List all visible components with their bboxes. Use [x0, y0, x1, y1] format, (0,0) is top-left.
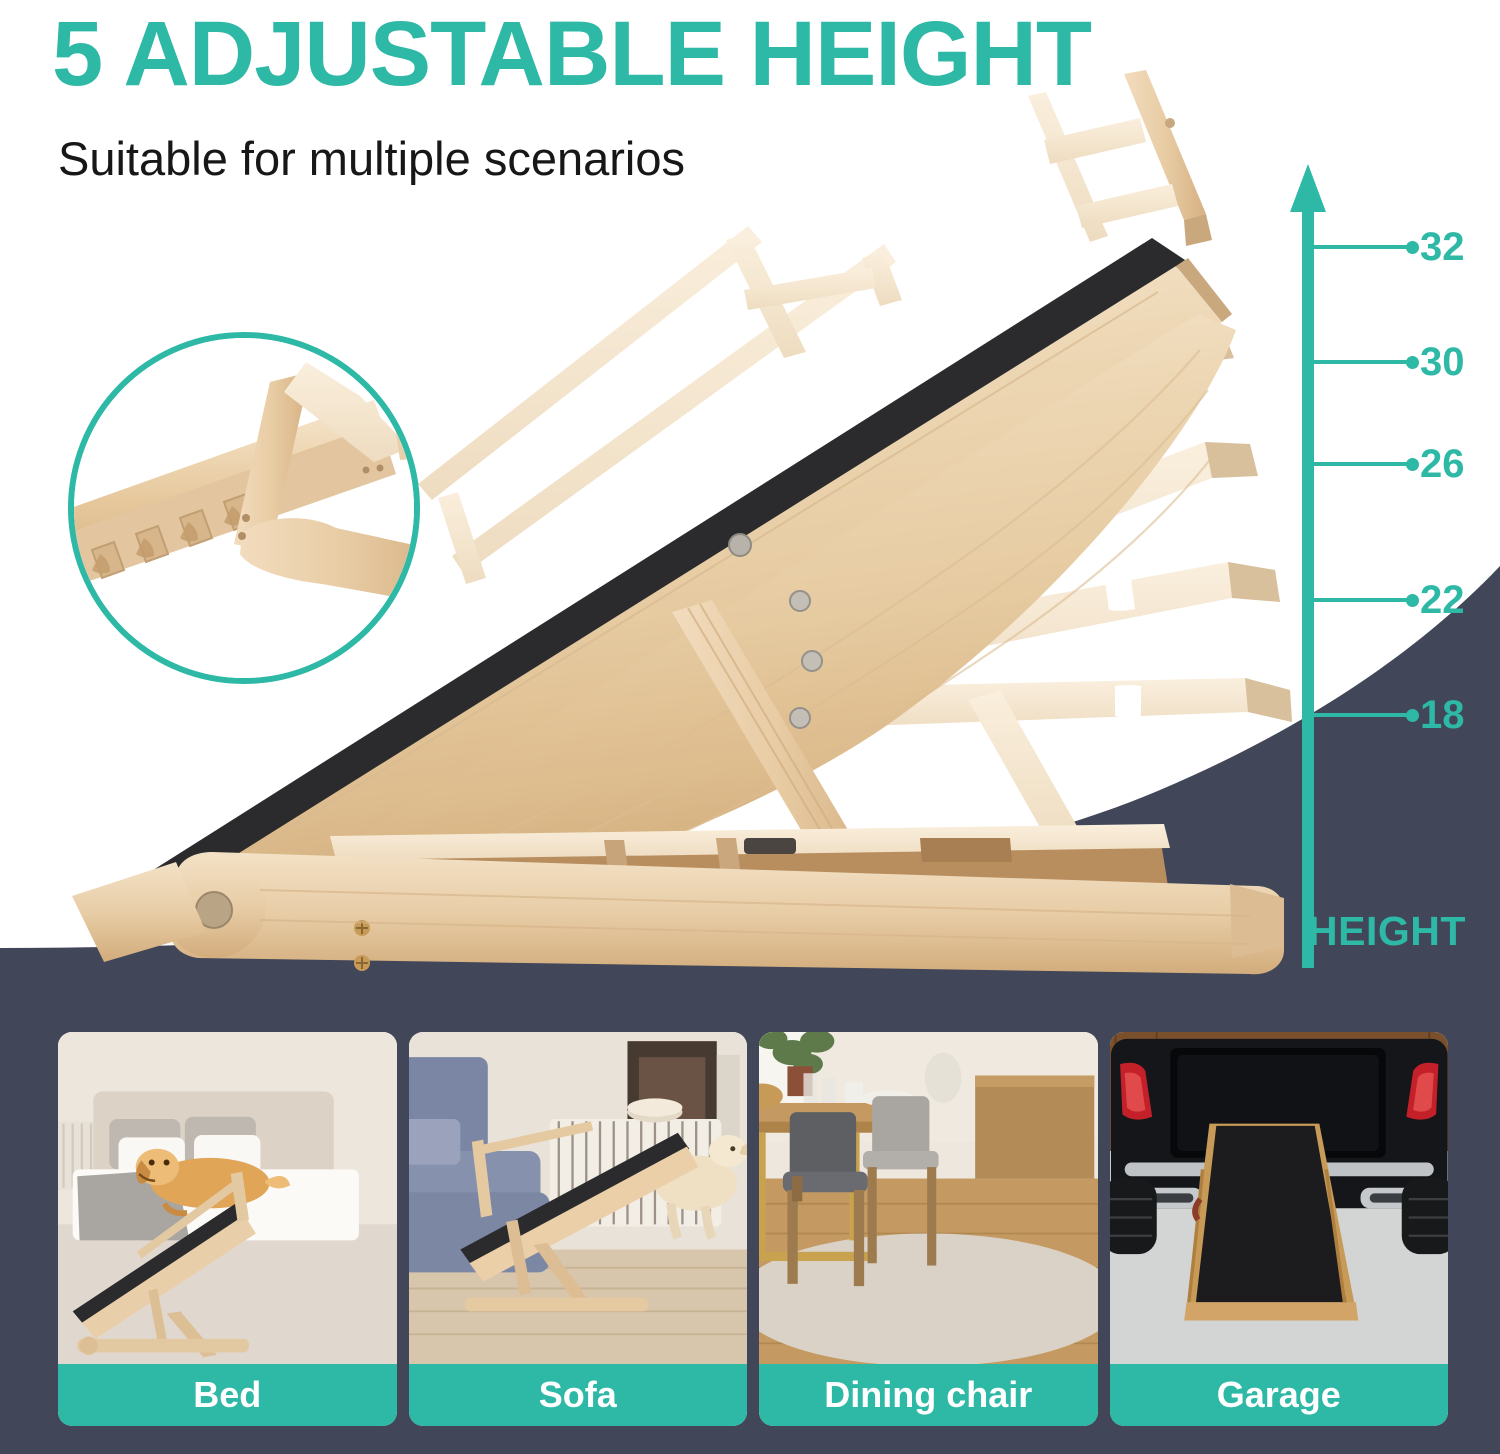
scenario-card-sofa[interactable]: Sofa [409, 1032, 748, 1426]
ruler-dot-22 [1406, 594, 1419, 607]
scenario-card-garage[interactable]: Garage [1110, 1032, 1449, 1426]
garage-scene-photo [1110, 1032, 1449, 1364]
ruler-tick-18 [1302, 713, 1412, 717]
scenario-card-row: Bed [0, 1012, 1500, 1454]
scenario-label-sofa: Sofa [409, 1364, 748, 1426]
ruler-value-26: 26 [1420, 444, 1465, 484]
ruler-tick-22 [1302, 598, 1412, 602]
bed-scene-photo [58, 1032, 397, 1364]
ruler-value-30: 30 [1420, 342, 1465, 382]
ruler-value-22: 22 [1420, 580, 1465, 620]
ruler-value-18: 18 [1420, 695, 1465, 735]
page-subtitle: Suitable for multiple scenarios [58, 131, 685, 186]
ruler-dot-18 [1406, 709, 1419, 722]
ruler-dot-26 [1406, 458, 1419, 471]
height-axis-label: HEIGHT [1308, 908, 1466, 955]
ruler-tick-32 [1302, 245, 1412, 249]
dining-chair-scene-photo [759, 1032, 1098, 1364]
ruler-dot-32 [1406, 241, 1419, 254]
hero-panel: 32 30 26 22 18 HEIGHT 5 ADJUSTABLE HEIGH… [0, 0, 1500, 1012]
ruler-dot-30 [1406, 356, 1419, 369]
page-title: 5 ADJUSTABLE HEIGHT [52, 6, 1091, 103]
ruler-axis-arrow [1280, 150, 1500, 970]
scenario-card-bed[interactable]: Bed [58, 1032, 397, 1426]
scenario-label-garage: Garage [1110, 1364, 1449, 1426]
scenario-label-bed: Bed [58, 1364, 397, 1426]
ruler-value-32: 32 [1420, 227, 1465, 267]
height-ruler: 32 30 26 22 18 [1280, 150, 1500, 970]
adjustment-notch-closeup-inset [68, 332, 420, 684]
sofa-scene-photo [409, 1032, 748, 1364]
scenario-card-dining-chair[interactable]: Dining chair [759, 1032, 1098, 1426]
ruler-tick-26 [1302, 462, 1412, 466]
ruler-tick-30 [1302, 360, 1412, 364]
scenario-label-dining-chair: Dining chair [759, 1364, 1098, 1426]
